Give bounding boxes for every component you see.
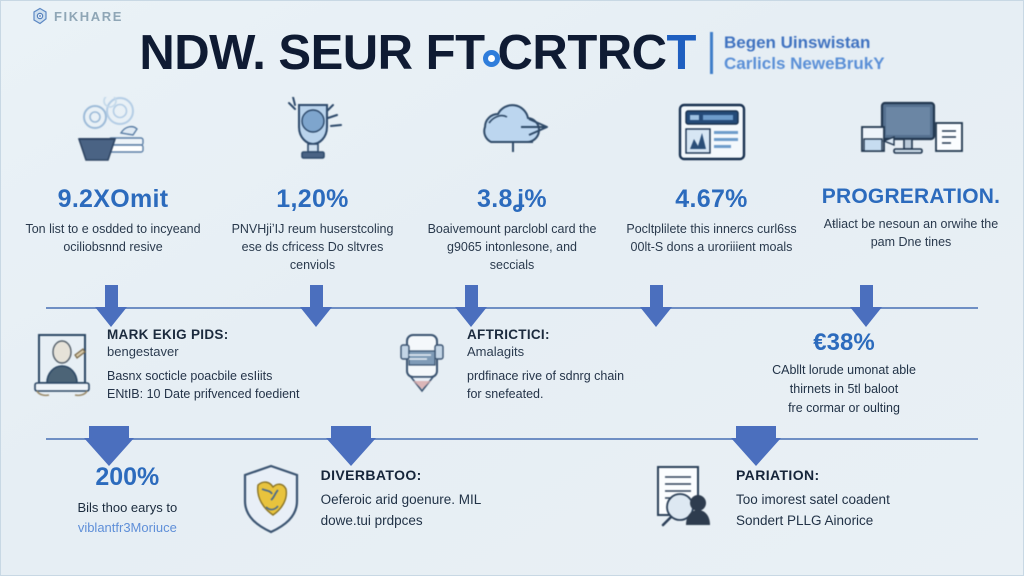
- stat-card-3: 3.8ʝ% Boaivemount parclobl card the g906…: [418, 95, 606, 274]
- stat-value: PROGRERATION.: [817, 185, 1005, 209]
- stat-value: 1,20%: [219, 185, 407, 214]
- bottom-item-heading: DIVERBATOO:: [321, 467, 482, 483]
- mid-item-2: AFTRICTICI: Amalagits prdfinace rive of …: [389, 327, 719, 417]
- mid-stat-desc-1: CAbllt lorude umonat able: [719, 361, 969, 380]
- stat-card-2: 1,20% PNVHjiʼIJ reum huserstcoling ese d…: [219, 95, 407, 274]
- person-desk-icon: [29, 327, 95, 397]
- bottom-item-1: DIVERBATOO: Oeferoic arid goenure. MIL d…: [234, 463, 649, 535]
- bottom-row: 200% Bils thoo earys to viblantfr3Moriuc…: [21, 463, 1005, 537]
- stat-value: 9.2XOmit: [19, 185, 207, 214]
- divider-line-1: [46, 307, 978, 309]
- down-arrow-icon: [95, 285, 127, 327]
- mid-item-1: MARK EKIG PIDS: bengestaver Basnx soctic…: [29, 327, 389, 417]
- bottom-stat-desc: Bils thoo earys to viblantfr3Moriuce: [21, 498, 234, 537]
- bottom-stat-value: 200%: [21, 463, 234, 492]
- stat-value: 3.8ʝ%: [418, 185, 606, 214]
- mid-item-body-1: prdfinace rive of sdnrg chain: [467, 367, 624, 386]
- mid-stat-desc-2: thirnets in 5tl baloot: [719, 380, 969, 399]
- cloud-arrow-icon: [418, 95, 606, 173]
- bottom-item-text: DIVERBATOO: Oeferoic arid goenure. MIL d…: [321, 463, 482, 532]
- page-title: NDW. SEUR FTCRTRCT: [139, 25, 696, 81]
- down-arrow-icon: [731, 426, 781, 466]
- bottom-item-heading: PARIATION:: [736, 467, 890, 483]
- gears-books-icon: [19, 95, 207, 173]
- down-arrow-icon: [640, 285, 672, 327]
- down-arrow-icon: [455, 285, 487, 327]
- shield-crest-icon: [234, 463, 308, 535]
- bottom-item-text: PARIATION: Too imorest satel coadent Son…: [736, 463, 890, 532]
- brand-name: FIKHARE: [54, 9, 123, 24]
- bottom-item-body-2: dowe.tui prdpces: [321, 511, 482, 532]
- mid-item-heading: AFTRICTICI:: [467, 327, 624, 342]
- bottom-item-body-2: Sondert PLLG Ainorice: [736, 511, 890, 532]
- mid-item-text: MARK EKIG PIDS: bengestaver Basnx soctic…: [107, 327, 299, 404]
- subtitle-line-2: Carlicls NeweBrukY: [724, 53, 885, 74]
- mid-item-subheading: Amalagits: [467, 342, 624, 362]
- stat-description: PNVHjiʼIJ reum huserstcoling ese ds cfri…: [219, 220, 407, 274]
- mid-stat-card: €38% CAbllt lorude umonat able thirnets …: [719, 327, 969, 417]
- mid-stat-value: €38%: [719, 329, 969, 357]
- stat-description: Boaivemount parclobl card the g9065 into…: [418, 220, 606, 274]
- lightbulb-shield-icon: [219, 95, 407, 173]
- bottom-item-body-1: Too imorest satel coadent: [736, 490, 890, 511]
- stat-card-1: 9.2XOmit Ton list to e osdded to incyean…: [19, 95, 207, 274]
- title-part-2: CRTRC: [498, 26, 667, 80]
- top-stats-row: 9.2XOmit Ton list to e osdded to incyean…: [19, 95, 1005, 274]
- header-title-row: NDW. SEUR FTCRTRCT Begen Uinswistan Carl…: [1, 25, 1023, 81]
- mid-item-heading: MARK EKIG PIDS:: [107, 327, 299, 342]
- stat-description: Aŧliact be nesoun an orwihe the pam Dne …: [817, 215, 1005, 251]
- subtitle-line-1: Begen Uinswistan: [724, 32, 885, 53]
- bottom-stat-link[interactable]: viblantfr3Moriuce: [78, 520, 177, 535]
- title-part-1: NDW. SEUR FT: [139, 26, 484, 80]
- bottom-stat-card: 200% Bils thoo earys to viblantfr3Moriuc…: [21, 463, 234, 537]
- dashboard-chart-icon: [618, 95, 806, 173]
- bottom-stat-desc-line: Bils thoo earys to: [77, 500, 177, 515]
- bottom-item-2: PARIATION: Too imorest satel coadent Son…: [649, 463, 1005, 535]
- hex-badge-icon: [31, 7, 49, 25]
- divider-line-2: [46, 438, 978, 440]
- mid-item-subheading: bengestaver: [107, 342, 299, 362]
- battery-ribbon-icon: [389, 327, 455, 401]
- mid-item-body-2: for snefeated.: [467, 385, 624, 404]
- down-arrow-icon: [850, 285, 882, 327]
- middle-row: MARK EKIG PIDS: bengestaver Basnx soctic…: [29, 327, 1005, 417]
- down-arrow-icon: [84, 426, 134, 466]
- header-subtitle: Begen Uinswistan Carlicls NeweBrukY: [710, 32, 885, 75]
- stat-value: 4.67%: [618, 185, 806, 214]
- down-arrow-icon: [326, 426, 376, 466]
- stat-card-4: 4.67% Pocltplilete this innercs curl6ss …: [618, 95, 806, 274]
- desktop-monitor-icon: [817, 95, 1005, 173]
- mid-item-body-2: ENtIB: 10 Date prifvenced foedient: [107, 385, 299, 404]
- down-arrow-icon: [300, 285, 332, 327]
- document-person-icon: [649, 463, 723, 535]
- bottom-item-body-1: Oeferoic arid goenure. MIL: [321, 490, 482, 511]
- mid-item-text: AFTRICTICI: Amalagits prdfinace rive of …: [467, 327, 624, 404]
- brand-logo: FIKHARE: [31, 7, 123, 25]
- mid-item-body-1: Basnx socticle poacbile esIiits: [107, 367, 299, 386]
- stat-description: Pocltplilete this innercs curl6ss 00lt-S…: [618, 220, 806, 256]
- mid-stat-desc-3: fre cormar or oulting: [719, 399, 969, 418]
- stat-description: Ton list to e osdded to incyeand ociliob…: [19, 220, 207, 256]
- stat-card-5: PROGRERATION. Aŧliact be nesoun an orwih…: [817, 95, 1005, 274]
- infographic-canvas: FIKHARE NDW. SEUR FTCRTRCT Begen Uinswis…: [0, 0, 1024, 576]
- title-part-3: T: [667, 26, 696, 80]
